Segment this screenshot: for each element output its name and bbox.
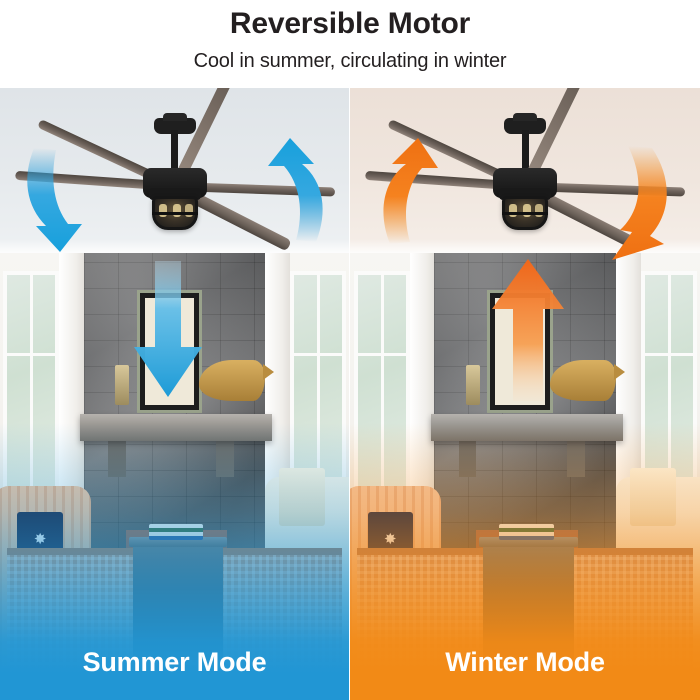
fish-sculpture [550, 360, 617, 400]
fireplace-mantel [431, 414, 624, 441]
stacked-books [149, 524, 203, 540]
fan-light-kit [502, 196, 548, 230]
mantel-lantern [115, 365, 129, 405]
framed-artwork [140, 293, 199, 409]
table-lamp [630, 468, 676, 526]
stacked-books [499, 524, 554, 540]
page-subtitle: Cool in summer, circulating in winter [0, 39, 700, 71]
coffee-table [133, 544, 224, 660]
mantel-corbel [108, 441, 125, 477]
summer-mode-label: Summer Mode [0, 647, 349, 678]
mantel-corbel [216, 441, 233, 477]
mantel-corbel [567, 441, 585, 477]
room-scene-winter [350, 253, 700, 700]
fan-light-kit [152, 196, 198, 230]
window-left [354, 271, 410, 521]
room-scene-summer [0, 253, 349, 700]
window-left [3, 271, 59, 521]
panel-winter: Winter Mode [350, 88, 700, 700]
ceiling-fan-winter [355, 108, 695, 243]
ceiling-fan-summer [5, 108, 345, 243]
panel-summer: Summer Mode [0, 88, 350, 700]
framed-artwork [490, 293, 550, 409]
fan-motor-housing [143, 168, 207, 198]
fireplace-mantel [80, 414, 272, 441]
fan-motor-housing [493, 168, 557, 198]
winter-mode-label: Winter Mode [350, 647, 700, 678]
coffee-table [483, 544, 574, 660]
header: Reversible Motor Cool in summer, circula… [0, 0, 700, 88]
table-lamp [279, 468, 324, 526]
mantel-lantern [466, 365, 480, 405]
comparison-panels: Summer Mode [0, 88, 700, 700]
page-title: Reversible Motor [0, 0, 700, 39]
mantel-corbel [459, 441, 477, 477]
fish-sculpture [199, 360, 265, 400]
infographic-page: Reversible Motor Cool in summer, circula… [0, 0, 700, 700]
